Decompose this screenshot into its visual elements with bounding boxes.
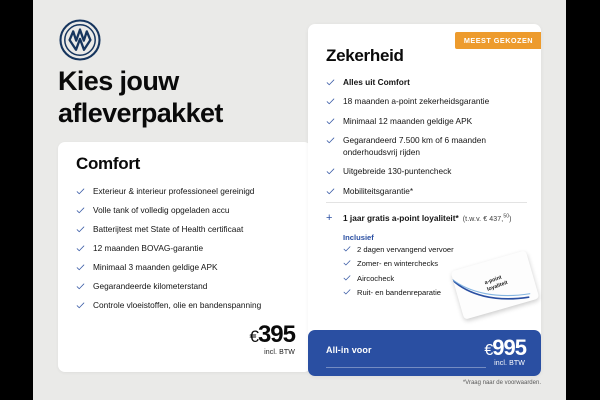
ad-canvas: Kies jouw afleverpakket Comfort Exterieu… [33, 0, 566, 400]
list-item-label: 12 maanden BOVAG-garantie [93, 243, 203, 253]
list-item: Minimaal 12 maanden geldige APK [326, 116, 531, 127]
list-item: Uitgebreide 130-puntencheck [326, 166, 531, 177]
check-icon [326, 97, 335, 106]
loyalty-card-graphic: a-point loyaliteit [451, 250, 540, 320]
check-icon [326, 187, 335, 196]
list-item-label: Controle vloeistoffen, olie en bandenspa… [93, 300, 261, 310]
list-item: Ruit- en bandenreparatie [343, 288, 454, 298]
check-icon [326, 167, 335, 176]
comfort-price-note: incl. BTW [249, 349, 295, 356]
zekerheid-feature-list: Alles uit Comfort 18 maanden a-point zek… [326, 77, 531, 205]
comfort-title: Comfort [76, 154, 140, 174]
package-card-zekerheid[interactable]: MEEST GEKOZEN Zekerheid Alles uit Comfor… [308, 24, 541, 376]
list-item-label: Gegarandeerde kilometerstand [93, 281, 207, 291]
comfort-feature-list: Exterieur & interieur professioneel gere… [76, 186, 297, 319]
check-icon [76, 301, 85, 310]
list-item: Zomer- en winterchecks [343, 259, 454, 269]
list-item: 12 maanden BOVAG-garantie [76, 243, 297, 254]
package-card-comfort[interactable]: Comfort Exterieur & interieur profession… [58, 142, 311, 372]
list-item: 2 dagen vervangend vervoer [343, 245, 454, 255]
list-item-label: Alles uit Comfort [343, 77, 410, 87]
list-item-label: Uitgebreide 130-puntencheck [343, 166, 451, 176]
plus-icon: + [326, 213, 332, 224]
list-item: Gegarandeerde kilometerstand [76, 281, 297, 292]
check-icon [76, 187, 85, 196]
loyalty-offer-row: + 1 jaar gratis a-point loyaliteit*(t.w.… [326, 213, 531, 223]
comfort-price-block: €395 incl. BTW [249, 323, 295, 356]
check-icon [326, 78, 335, 87]
check-icon [76, 244, 85, 253]
status-badge: MEEST GEKOZEN [455, 32, 541, 49]
footer-underline [326, 367, 486, 368]
list-item: Exterieur & interieur professioneel gere… [76, 186, 297, 197]
zekerheid-price-amount: 995 [492, 335, 526, 360]
list-item-label: 2 dagen vervangend vervoer [357, 245, 454, 254]
allin-label: All-in voor [326, 345, 372, 355]
check-icon [343, 288, 351, 296]
list-item-label: Gegarandeerd 7.500 km of 6 maanden onder… [343, 135, 486, 156]
list-item-label: Zomer- en winterchecks [357, 259, 438, 268]
list-item: Alles uit Comfort [326, 77, 531, 88]
comfort-price: €395 [249, 323, 295, 347]
check-icon [76, 225, 85, 234]
comfort-price-amount: 395 [258, 321, 295, 348]
included-list: 2 dagen vervangend vervoer Zomer- en win… [343, 245, 454, 302]
zekerheid-title: Zekerheid [326, 46, 404, 66]
page-title: Kies jouw afleverpakket [58, 66, 303, 129]
included-title: Inclusief [343, 233, 374, 242]
list-item: Minimaal 3 maanden geldige APK [76, 262, 297, 273]
list-item-label: Volle tank of volledig opgeladen accu [93, 205, 230, 215]
list-item: Gegarandeerd 7.500 km of 6 maanden onder… [326, 135, 531, 158]
check-icon [343, 274, 351, 282]
check-icon [76, 206, 85, 215]
list-item: 18 maanden a-point zekerheidsgarantie [326, 96, 531, 107]
check-icon [326, 136, 335, 145]
list-item: Aircocheck [343, 274, 454, 284]
list-item: Batterijtest met State of Health certifi… [76, 224, 297, 235]
list-item-label: Mobiliteitsgarantie* [343, 186, 413, 196]
list-item: Mobiliteitsgarantie* [326, 186, 531, 197]
ad-creative: Kies jouw afleverpakket Comfort Exterieu… [0, 0, 600, 400]
loyalty-value-prefix: (t.w.v. € 437, [463, 216, 504, 223]
headline-line-2: afleverpakket [58, 98, 303, 130]
list-item: Volle tank of volledig opgeladen accu [76, 205, 297, 216]
check-icon [326, 117, 335, 126]
check-icon [343, 259, 351, 267]
headline-line-1: Kies jouw [58, 66, 303, 98]
check-icon [76, 282, 85, 291]
list-item-label: Exterieur & interieur professioneel gere… [93, 186, 254, 196]
divider [326, 202, 527, 203]
zekerheid-price: €995 [484, 337, 526, 359]
list-item: Controle vloeistoffen, olie en bandenspa… [76, 300, 297, 311]
currency-symbol: € [249, 327, 257, 346]
check-icon [76, 263, 85, 272]
footnote: *Vraag naar de voorwaarden. [463, 380, 541, 386]
loyalty-label: 1 jaar gratis a-point loyaliteit* [326, 213, 459, 223]
list-item-label: Aircocheck [357, 274, 394, 283]
list-item-label: Minimaal 12 maanden geldige APK [343, 116, 472, 126]
loyalty-value: (t.w.v. € 437,50) [463, 216, 512, 223]
loyalty-value-suffix: ) [509, 216, 511, 223]
list-item-label: Ruit- en bandenreparatie [357, 288, 441, 297]
list-item-label: Minimaal 3 maanden geldige APK [93, 262, 218, 272]
list-item-label: 18 maanden a-point zekerheidsgarantie [343, 96, 489, 106]
volkswagen-logo [58, 18, 102, 62]
check-icon [343, 245, 351, 253]
zekerheid-price-footer[interactable]: All-in voor €995 incl. BTW [308, 330, 541, 376]
list-item-label: Batterijtest met State of Health certifi… [93, 224, 243, 234]
zekerheid-price-note: incl. BTW [494, 360, 525, 367]
